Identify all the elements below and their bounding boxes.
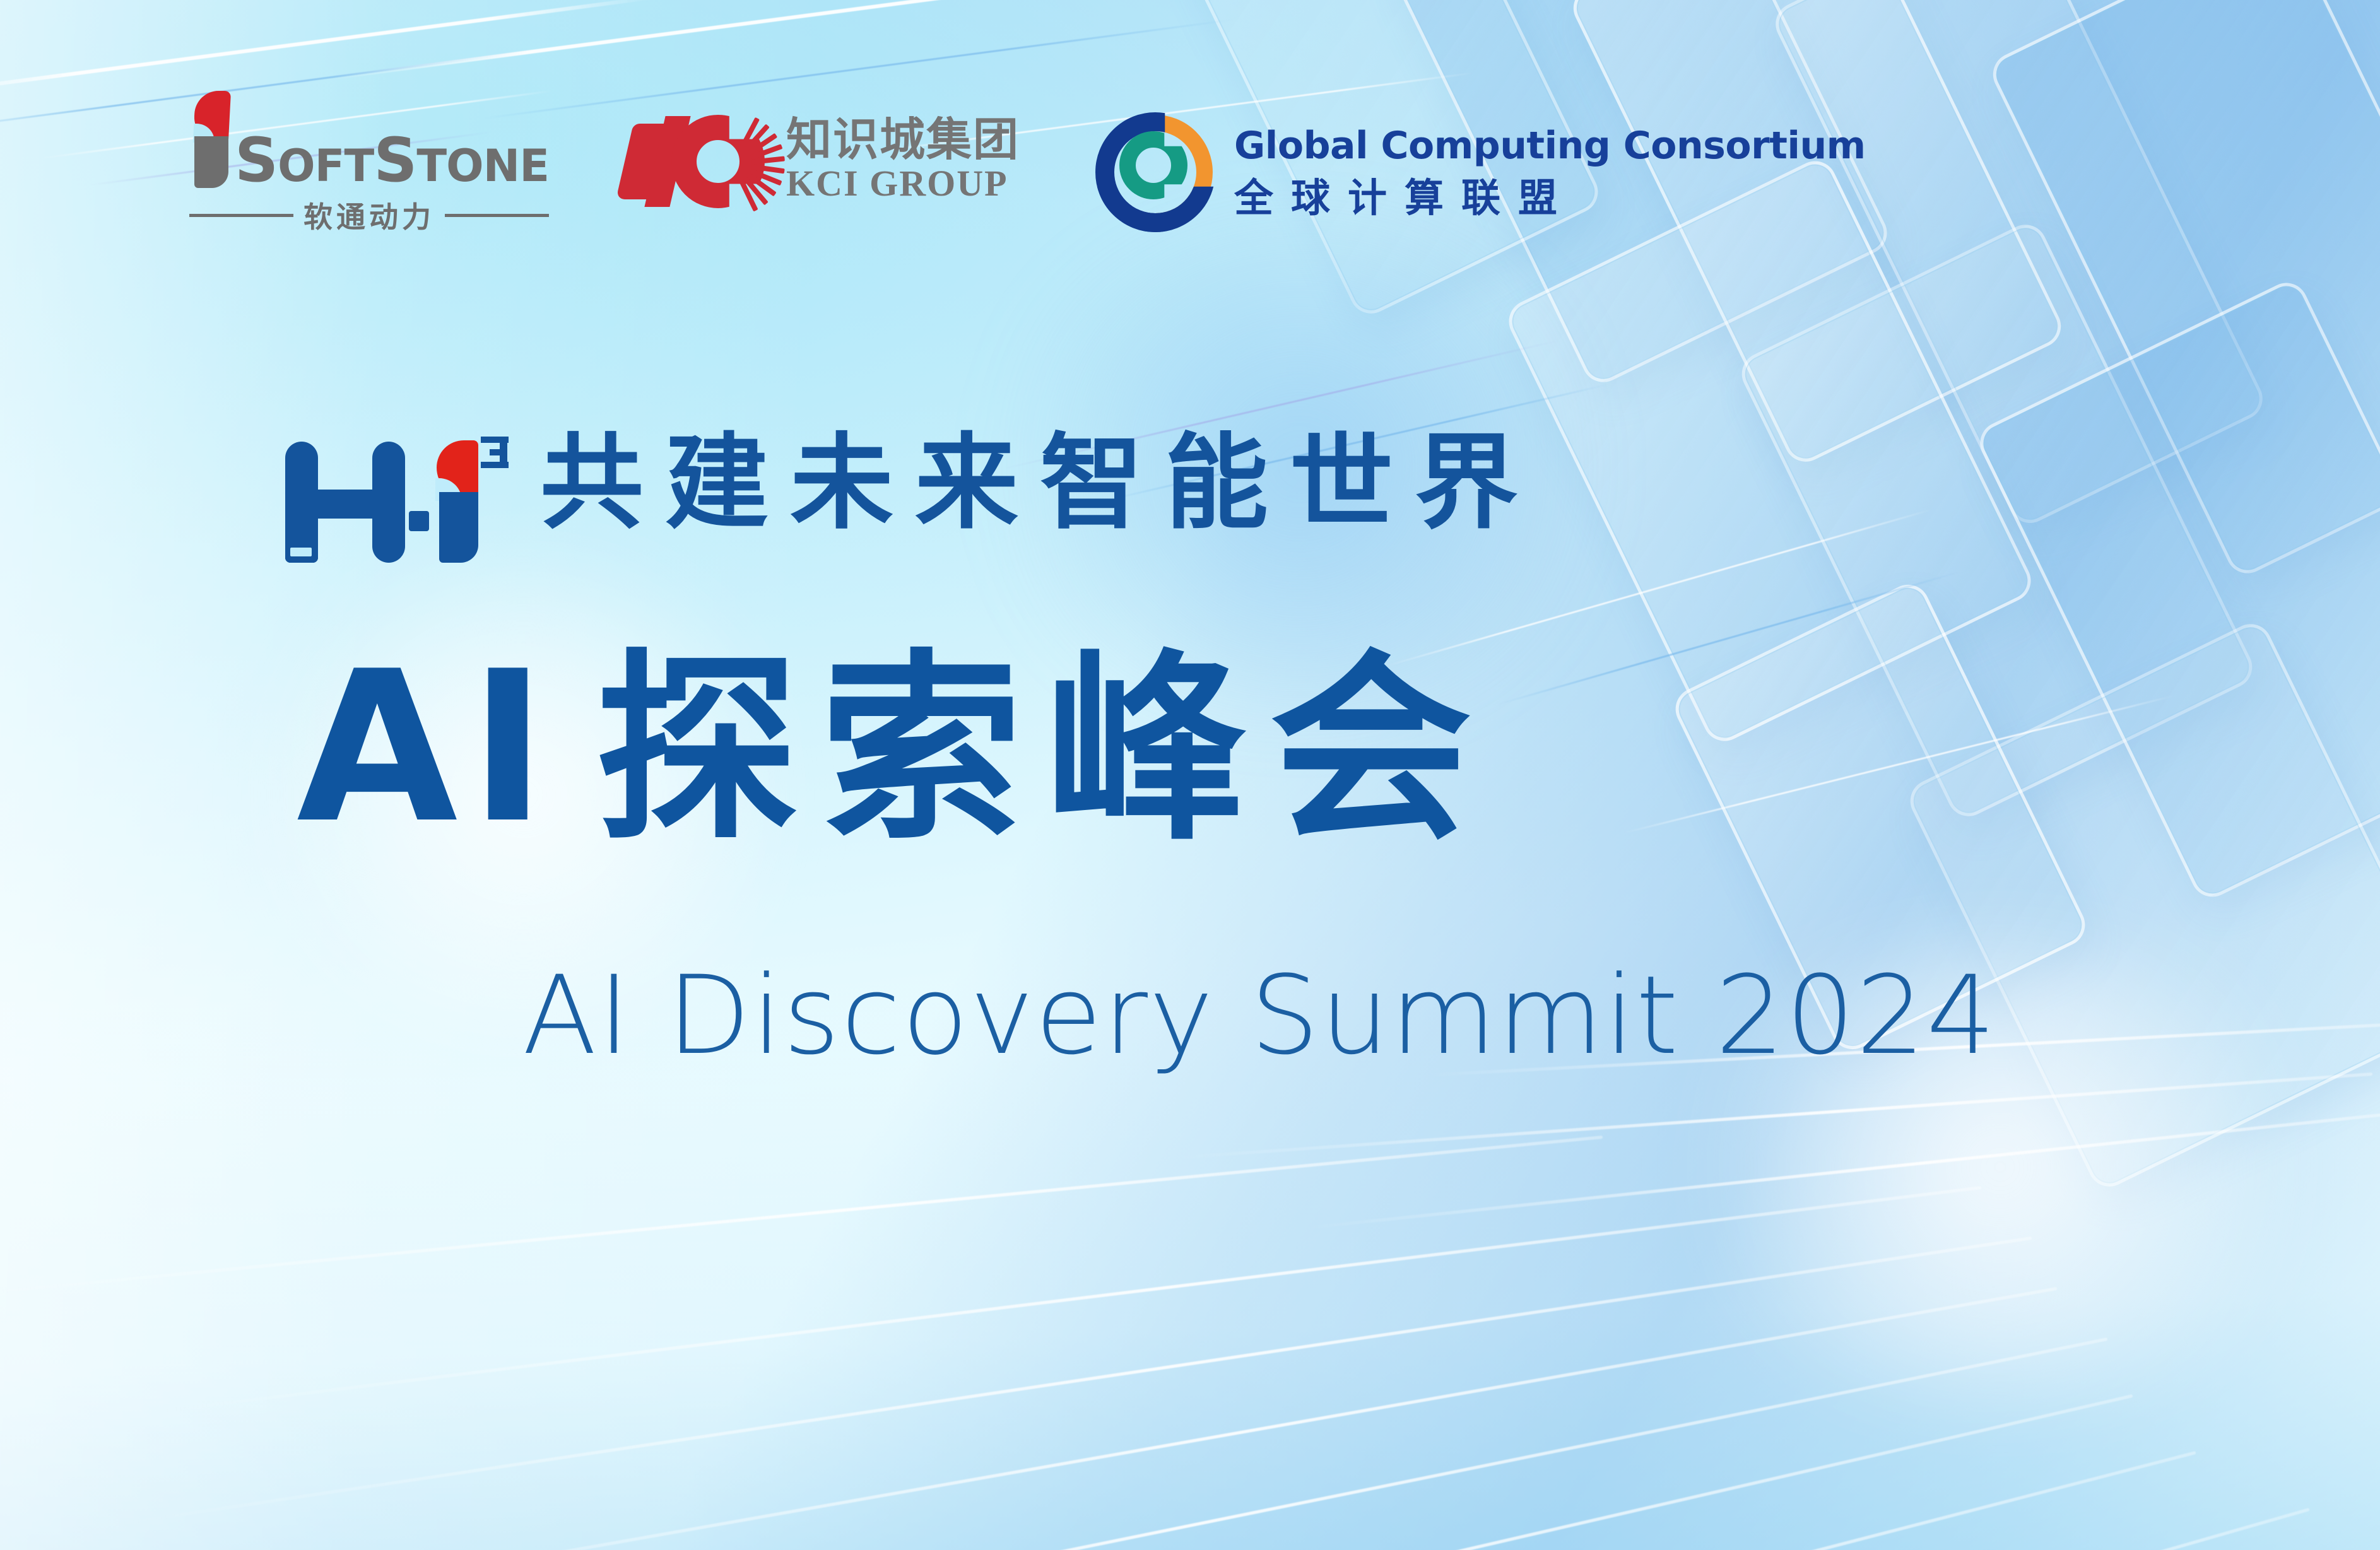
isoftstone-chinese-name: 软通动力 [303,194,435,236]
gcc-english-name: Global Computing Consortium [1234,127,1866,165]
gcc-text-block: Global Computing Consortium 全球计算联盟 [1234,127,1866,218]
gcc-triple-arc-icon [1095,112,1215,232]
isoftstone-wordmark-text: SOFTSTONE [235,134,549,187]
subtitle: AI Discovery Summit 2024 [522,961,1996,1070]
title-latin: AI [297,643,558,852]
middle-dot-icon [409,511,429,531]
kci-chinese-name: 知识城集团 [786,117,1020,162]
gcc-chinese-name: 全球计算联盟 [1234,179,1866,218]
kci-text-block: 知识城集团 KCI GROUP [786,117,1020,203]
kci-group-logo[interactable]: 知识城集团 KCI GROUP [625,112,1020,207]
isoftstone-logo[interactable]: SOFTSTONE 软通动力 [189,112,549,236]
letter-h-icon [285,442,405,563]
letter-i-flag-icon [434,442,483,563]
kci-spokes [685,114,781,209]
isoftstone-chinese-row: 软通动力 [189,194,549,236]
isoftstone-wordmark: SOFTSTONE [189,112,549,187]
rule-right [445,214,549,217]
kc-radial-icon [625,112,770,207]
tagline: 共建未来智能世界 [540,432,1540,535]
global-computing-consortium-logo[interactable]: Global Computing Consortium 全球计算联盟 [1095,112,1866,232]
h-i-cubed-mark [285,442,500,574]
poster-canvas: SOFTSTONE 软通动力 [0,0,2380,1550]
page-title: AI 探索峰会 [297,643,1494,852]
kci-english-name: KCI GROUP [786,165,1020,203]
rule-left [189,214,293,217]
title-chinese: 探索峰会 [596,649,1494,851]
sponsor-logo-row: SOFTSTONE 软通动力 [189,112,1866,236]
isoftstone-i-flag-icon [189,112,228,187]
superscript-three-icon [480,437,516,473]
